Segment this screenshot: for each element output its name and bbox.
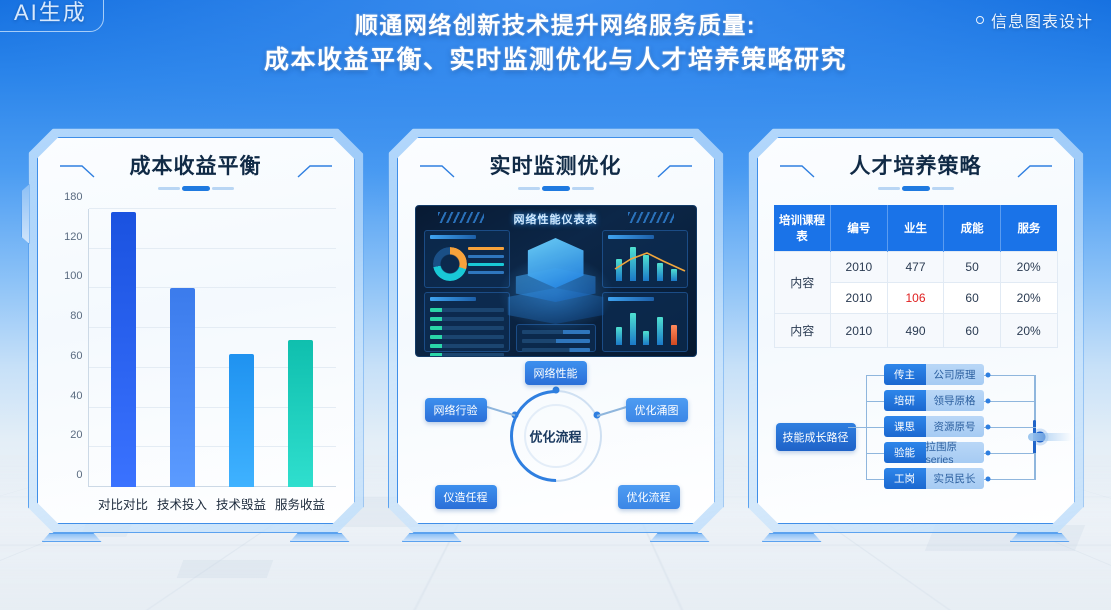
frame-nub bbox=[402, 533, 462, 542]
card-cost-benefit: 成本收益平衡 020406080100120180 对比对比技术投入技术毁益服务… bbox=[28, 128, 364, 533]
chart-plot-area: 020406080100120180 bbox=[56, 209, 336, 487]
frame-nub bbox=[42, 533, 102, 542]
corner-tag-label: 信息图表设计 bbox=[991, 8, 1093, 32]
x-axis-tick: 技术投入 bbox=[153, 494, 212, 513]
y-axis-tick: 0 bbox=[76, 469, 82, 481]
table-row[interactable]: 内容20104775020% bbox=[774, 252, 1057, 283]
table-cell: 60 bbox=[944, 283, 1001, 314]
tree-node-dot bbox=[985, 450, 990, 455]
bar-series bbox=[89, 209, 336, 487]
y-axis: 020406080100120180 bbox=[56, 209, 88, 487]
table-column-header: 业生 bbox=[887, 205, 944, 252]
flow-node-bottom-left[interactable]: 仪造任程 bbox=[435, 485, 497, 509]
tree-branch-text: 实员民长 bbox=[926, 468, 984, 489]
tree-connector bbox=[866, 453, 884, 455]
title-underline bbox=[158, 186, 234, 191]
table-column-header: 成能 bbox=[944, 205, 1001, 252]
tree-branch-text: 拉围原series bbox=[926, 442, 984, 463]
table-body: 内容20104775020%20101066020%内容20104906020% bbox=[774, 252, 1057, 348]
flow-center-label: 优化流程 bbox=[529, 427, 581, 446]
table-column-header: 服务 bbox=[1000, 205, 1057, 252]
frame-nub bbox=[762, 533, 822, 542]
x-axis-labels: 对比对比技术投入技术毁益服务收益 bbox=[56, 487, 336, 513]
mini-bar-series bbox=[613, 311, 681, 345]
tree-branch-text: 领导原格 bbox=[926, 390, 984, 411]
tree-connector bbox=[984, 401, 1036, 403]
ai-generated-badge: AI生成 bbox=[0, 0, 104, 32]
floor-streak bbox=[177, 560, 274, 578]
donut-legend bbox=[468, 247, 504, 279]
tree-branch-tag: 传主 bbox=[884, 364, 926, 385]
mini-list-rows bbox=[522, 330, 590, 357]
table-cell: 2010 bbox=[831, 283, 888, 314]
dashboard-image: 网络性能仪表表 bbox=[415, 205, 697, 357]
corner-tag: 信息图表设计 bbox=[976, 8, 1093, 32]
bracket-left-icon bbox=[420, 165, 466, 178]
table-row[interactable]: 内容20104906020% bbox=[774, 314, 1057, 348]
table-cell: 50 bbox=[944, 252, 1001, 283]
y-axis-tick: 120 bbox=[64, 231, 82, 243]
tree-connector bbox=[866, 375, 884, 377]
tree-branch[interactable]: 课思资源原号 bbox=[884, 416, 984, 437]
tree-connector bbox=[866, 401, 884, 403]
bar[interactable] bbox=[288, 340, 313, 487]
dashboard-deco bbox=[438, 212, 484, 223]
table-cell: 2010 bbox=[831, 252, 888, 283]
frame-nub bbox=[290, 533, 350, 542]
donut-chart-icon bbox=[433, 247, 467, 281]
tree-branch-text: 公司原理 bbox=[926, 364, 984, 385]
table-column-header: 编号 bbox=[831, 205, 888, 252]
bar-chart: 020406080100120180 对比对比技术投入技术毁益服务收益 bbox=[54, 205, 338, 513]
table-row-label: 内容 bbox=[774, 252, 831, 314]
y-axis-tick: 180 bbox=[64, 191, 82, 203]
tree-branch[interactable]: 验能拉围原series bbox=[884, 442, 984, 463]
bracket-left-icon bbox=[780, 165, 826, 178]
bracket-right-icon bbox=[1006, 165, 1052, 178]
tree-node-dot bbox=[985, 424, 990, 429]
table-header-row: 培训课程表编号业生成能服务 bbox=[774, 205, 1057, 252]
card-realtime-monitor: 实时监测优化 网络性能仪表表 bbox=[388, 128, 724, 533]
frame-nub bbox=[1010, 533, 1070, 542]
tree-node-dot bbox=[985, 476, 990, 481]
skill-tree: 技能成长路径 传主公司原理培研领导原格课思资源原号验能拉围原series工岗实员… bbox=[774, 360, 1058, 513]
y-axis-tick: 100 bbox=[64, 270, 82, 282]
table-cell: 477 bbox=[887, 252, 944, 283]
table-cell: 490 bbox=[887, 314, 944, 348]
table-cell: 60 bbox=[944, 314, 1001, 348]
tree-branch[interactable]: 培研领导原格 bbox=[884, 390, 984, 411]
dashboard-title: 网络性能仪表表 bbox=[514, 211, 598, 227]
title-underline bbox=[878, 186, 954, 191]
title-line-2: 成本收益平衡、实时监测优化与人才培养策略研究 bbox=[170, 42, 941, 79]
card-talent-strategy: 人才培养策略 培训课程表编号业生成能服务 内容20104775020%20101… bbox=[748, 128, 1084, 533]
tree-connector bbox=[984, 453, 1036, 455]
circle-outline-icon bbox=[976, 16, 984, 24]
dashboard-deco bbox=[628, 212, 674, 223]
bar[interactable] bbox=[111, 212, 136, 487]
hologram-cube-icon bbox=[501, 234, 611, 334]
x-axis-tick: 对比对比 bbox=[94, 494, 153, 513]
tree-hub-tail bbox=[1028, 433, 1072, 441]
card-header: 成本收益平衡 bbox=[54, 152, 338, 205]
frame-nub bbox=[650, 533, 710, 542]
tree-connector bbox=[866, 427, 884, 429]
title-line-1: 顺通网络创新技术提升网络服务质量: bbox=[170, 8, 941, 42]
y-axis-tick: 20 bbox=[70, 429, 82, 441]
card-header: 实时监测优化 bbox=[414, 152, 698, 205]
tree-branch-tag: 工岗 bbox=[884, 468, 926, 489]
tree-branch-tag: 课思 bbox=[884, 416, 926, 437]
bar[interactable] bbox=[229, 354, 254, 487]
tree-connector bbox=[866, 479, 884, 481]
table-cell: 20% bbox=[1000, 252, 1057, 283]
tree-root-label: 技能成长路径 bbox=[776, 423, 856, 451]
flow-node-right[interactable]: 优化涌图 bbox=[626, 398, 688, 422]
dashboard-panel-trend bbox=[602, 230, 688, 288]
tree-branch-tag: 培研 bbox=[884, 390, 926, 411]
table-cell: 20% bbox=[1000, 314, 1057, 348]
y-axis-tick: 80 bbox=[70, 310, 82, 322]
y-axis-tick: 60 bbox=[70, 350, 82, 362]
title-underline bbox=[518, 186, 594, 191]
trend-line bbox=[611, 249, 691, 277]
training-table: 培训课程表编号业生成能服务 内容20104775020%20101066020%… bbox=[774, 205, 1058, 348]
table-cell: 106 bbox=[887, 283, 944, 314]
y-axis-tick: 40 bbox=[70, 390, 82, 402]
table-row-label: 内容 bbox=[774, 314, 831, 348]
x-axis-tick: 技术毁益 bbox=[212, 494, 271, 513]
frame-nub bbox=[21, 184, 30, 244]
x-axis-tick: 服务收益 bbox=[271, 494, 330, 513]
tree-node-dot bbox=[985, 372, 990, 377]
flow-node-left[interactable]: 网络行验 bbox=[425, 398, 487, 422]
page-title: 顺通网络创新技术提升网络服务质量: 成本收益平衡、实时监测优化与人才培养策略研究 bbox=[0, 8, 1111, 79]
tree-root-connector bbox=[848, 427, 866, 429]
tree-node-dot bbox=[985, 398, 990, 403]
flow-pip bbox=[552, 387, 559, 394]
tree-branch[interactable]: 工岗实员民长 bbox=[884, 468, 984, 489]
tree-branch[interactable]: 传主公司原理 bbox=[884, 364, 984, 385]
card-row: 成本收益平衡 020406080100120180 对比对比技术投入技术毁益服务… bbox=[0, 128, 1111, 538]
card-header: 人才培养策略 bbox=[774, 152, 1058, 205]
bracket-right-icon bbox=[646, 165, 692, 178]
flow-diagram: 优化流程 网络性能 网络行验 优化涌图 仪造任程 优化流程 bbox=[414, 365, 698, 513]
bar[interactable] bbox=[170, 288, 195, 487]
table-column-header: 培训课程表 bbox=[774, 205, 831, 252]
dashboard-panel-donut bbox=[424, 230, 510, 288]
bracket-left-icon bbox=[60, 165, 106, 178]
table-cell: 20% bbox=[1000, 283, 1057, 314]
bracket-right-icon bbox=[286, 165, 332, 178]
tree-branch-text: 资源原号 bbox=[926, 416, 984, 437]
chart-grid bbox=[88, 209, 336, 487]
tree-connector bbox=[984, 479, 1036, 481]
tree-branch-tag: 验能 bbox=[884, 442, 926, 463]
tree-connector bbox=[984, 375, 1036, 377]
mini-table-rows bbox=[430, 308, 504, 357]
table-cell: 2010 bbox=[831, 314, 888, 348]
flow-node-bottom-right[interactable]: 优化流程 bbox=[618, 485, 680, 509]
tree-connector bbox=[984, 427, 1036, 429]
flow-node-top[interactable]: 网络性能 bbox=[525, 361, 587, 385]
